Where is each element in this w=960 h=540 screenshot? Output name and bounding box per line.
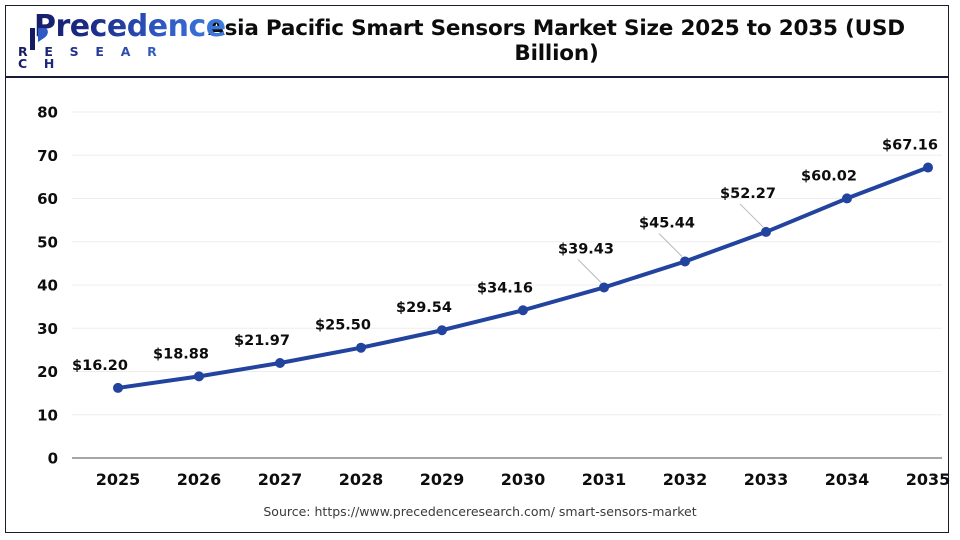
data-point-marker[interactable] bbox=[518, 305, 528, 315]
data-point-marker[interactable] bbox=[761, 227, 771, 237]
data-point-label: $21.97 bbox=[234, 333, 290, 349]
y-axis-tick-label: 40 bbox=[37, 277, 58, 295]
data-point-marker[interactable] bbox=[842, 193, 852, 203]
source-caption: Source: https://www.precedenceresearch.c… bbox=[0, 504, 960, 519]
data-point-marker[interactable] bbox=[113, 383, 123, 393]
y-axis-tick-label: 80 bbox=[37, 104, 58, 122]
x-axis-tick-label: 2033 bbox=[744, 470, 789, 489]
x-axis-tick-label: 2028 bbox=[339, 470, 384, 489]
precedence-research-logo: Precedence R E S E A R C H bbox=[16, 12, 181, 71]
data-point-label: $45.44 bbox=[639, 215, 695, 231]
data-point-marker[interactable] bbox=[275, 358, 285, 368]
data-point-marker[interactable] bbox=[194, 371, 204, 381]
data-point-marker[interactable] bbox=[356, 343, 366, 353]
line-chart: 01020304050607080$16.20$18.88$21.97$25.5… bbox=[0, 78, 960, 540]
chart-page: Precedence R E S E A R C H Asia Pacific … bbox=[0, 0, 960, 540]
data-point-label: $29.54 bbox=[396, 300, 452, 316]
x-axis-tick-label: 2025 bbox=[96, 470, 141, 489]
y-axis-tick-label: 50 bbox=[37, 233, 58, 251]
x-axis-tick-label: 2029 bbox=[420, 470, 465, 489]
chart-header: Precedence R E S E A R C H Asia Pacific … bbox=[6, 6, 948, 78]
y-axis-tick-label: 20 bbox=[37, 363, 58, 381]
x-axis-tick-label: 2027 bbox=[258, 470, 303, 489]
x-axis-tick-label: 2030 bbox=[501, 470, 546, 489]
y-axis-tick-label: 0 bbox=[48, 450, 58, 468]
data-point-marker[interactable] bbox=[599, 282, 609, 292]
data-point-marker[interactable] bbox=[437, 325, 447, 335]
precedence-leaf-mark-icon bbox=[28, 26, 50, 52]
y-axis-tick-label: 30 bbox=[37, 320, 58, 338]
chart-plot-area: 01020304050607080$16.20$18.88$21.97$25.5… bbox=[0, 78, 960, 540]
x-axis-tick-label: 2026 bbox=[177, 470, 222, 489]
data-point-label: $34.16 bbox=[477, 280, 533, 296]
x-axis-tick-label: 2035 bbox=[906, 470, 951, 489]
x-axis-tick-label: 2034 bbox=[825, 470, 870, 489]
data-point-label: $67.16 bbox=[882, 138, 938, 154]
data-point-label: $39.43 bbox=[558, 241, 614, 257]
data-point-marker[interactable] bbox=[923, 163, 933, 173]
page-title: Asia Pacific Smart Sensors Market Size 2… bbox=[181, 16, 948, 66]
data-point-label: $16.20 bbox=[72, 358, 128, 374]
y-axis-tick-label: 70 bbox=[37, 147, 58, 165]
data-point-label: $18.88 bbox=[153, 346, 209, 362]
y-axis-tick-label: 10 bbox=[37, 406, 58, 424]
y-axis-tick-label: 60 bbox=[37, 190, 58, 208]
x-axis-tick-label: 2031 bbox=[582, 470, 627, 489]
data-point-label: $25.50 bbox=[315, 318, 371, 334]
label-leader-line bbox=[740, 204, 763, 227]
data-point-marker[interactable] bbox=[680, 256, 690, 266]
x-axis-tick-label: 2032 bbox=[663, 470, 708, 489]
label-leader-line bbox=[578, 259, 601, 282]
data-point-label: $60.02 bbox=[801, 168, 857, 184]
data-point-label: $52.27 bbox=[720, 186, 776, 202]
series-line-asia-pacific-smart-sensors bbox=[118, 168, 928, 388]
label-leader-line bbox=[659, 233, 682, 256]
